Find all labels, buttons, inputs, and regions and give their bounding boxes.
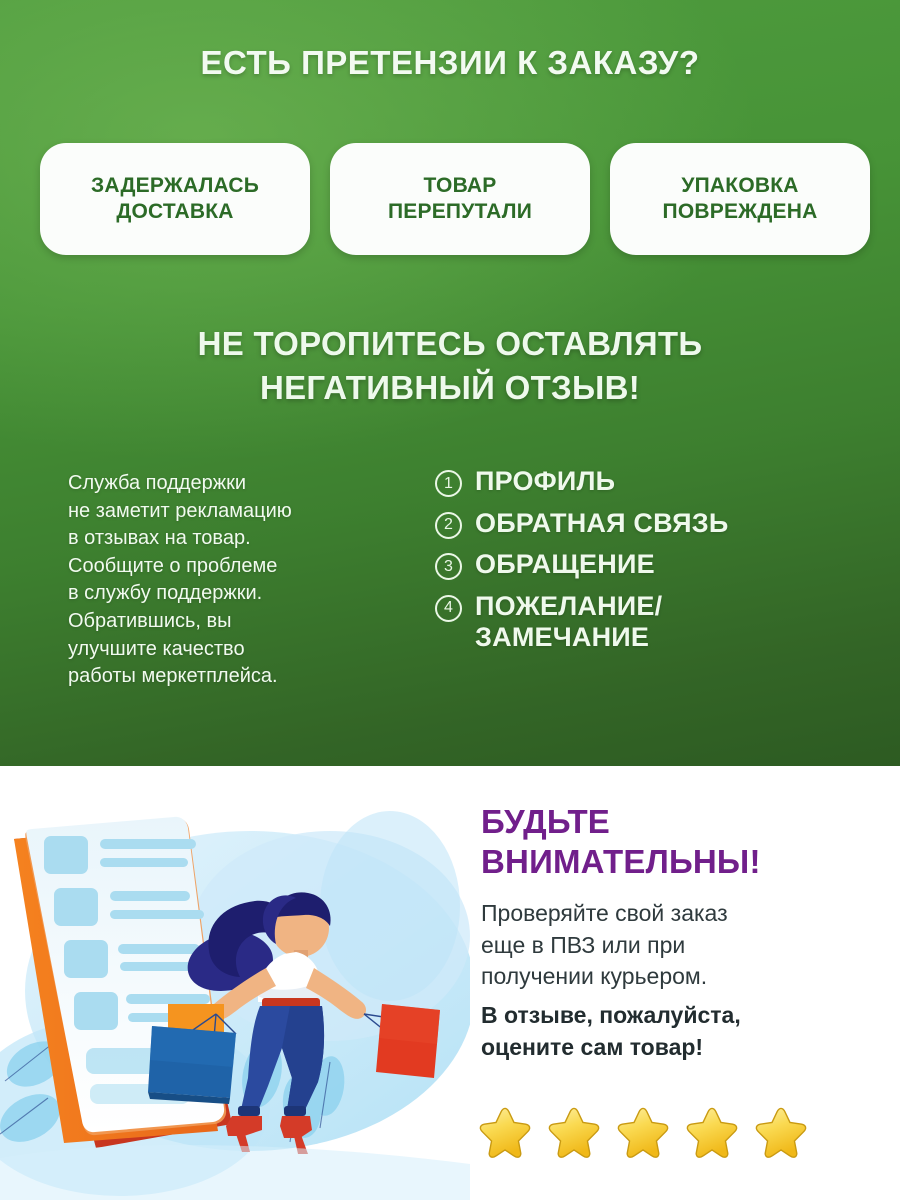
support-paragraph: Служба поддержки не заметит рекламацию в… [68,470,398,691]
notice-heading: БУДЬТЕ ВНИМАТЕЛЬНЫ! [481,802,891,881]
star-icon[interactable] [684,1104,740,1160]
step-label: ПРОФИЛЬ [475,466,615,498]
complaint-pill-damaged-package[interactable]: УПАКОВКА ПОВРЕЖДЕНА [610,143,870,255]
star-icon[interactable] [753,1104,809,1160]
complaint-pill-label: ТОВАР ПЕРЕПУТАЛИ [388,173,532,226]
list-item: 4 ПОЖЕЛАНИЕ/ ЗАМЕЧАНИЕ [435,591,865,654]
step-label: ПОЖЕЛАНИЕ/ ЗАМЕЧАНИЕ [475,591,662,654]
complaint-pill-wrong-item[interactable]: ТОВАР ПЕРЕПУТАЛИ [330,143,590,255]
step-number-badge: 4 [435,595,462,622]
complaint-pill-delivery-delayed[interactable]: ЗАДЕРЖАЛАСЬ ДОСТАВКА [40,143,310,255]
star-rating[interactable] [477,1104,809,1160]
list-item: 3 ОБРАЩЕНИЕ [435,549,865,581]
step-number-badge: 2 [435,512,462,539]
steps-list: 1 ПРОФИЛЬ 2 ОБРАТНАЯ СВЯЗЬ 3 ОБРАЩЕНИЕ 4… [435,466,865,664]
step-number-badge: 1 [435,470,462,497]
complaint-pill-label: УПАКОВКА ПОВРЕЖДЕНА [663,173,818,226]
section-headline: НЕ ТОРОПИТЕСЬ ОСТАВЛЯТЬ НЕГАТИВНЫЙ ОТЗЫВ… [0,322,900,410]
star-icon[interactable] [477,1104,533,1160]
green-section: ЕСТЬ ПРЕТЕНЗИИ К ЗАКАЗУ? ЗАДЕРЖАЛАСЬ ДОС… [0,0,900,766]
list-item: 2 ОБРАТНАЯ СВЯЗЬ [435,508,865,540]
step-label: ОБРАЩЕНИЕ [475,549,655,581]
page-title: ЕСТЬ ПРЕТЕНЗИИ К ЗАКАЗУ? [0,44,900,82]
list-item: 1 ПРОФИЛЬ [435,466,865,498]
shopping-woman-illustration [0,786,470,1200]
promo-banner: ЕСТЬ ПРЕТЕНЗИИ К ЗАКАЗУ? ЗАДЕРЖАЛАСЬ ДОС… [0,0,900,1200]
notice-body-emphasis: В отзыве, пожалуйста, оцените сам товар! [481,1000,881,1063]
step-label: ОБРАТНАЯ СВЯЗЬ [475,508,728,540]
notice-body: Проверяйте свой заказ еще в ПВЗ или при … [481,898,881,993]
step-number-badge: 3 [435,553,462,580]
star-icon[interactable] [546,1104,602,1160]
complaint-pill-label: ЗАДЕРЖАЛАСЬ ДОСТАВКА [91,173,259,226]
star-icon[interactable] [615,1104,671,1160]
